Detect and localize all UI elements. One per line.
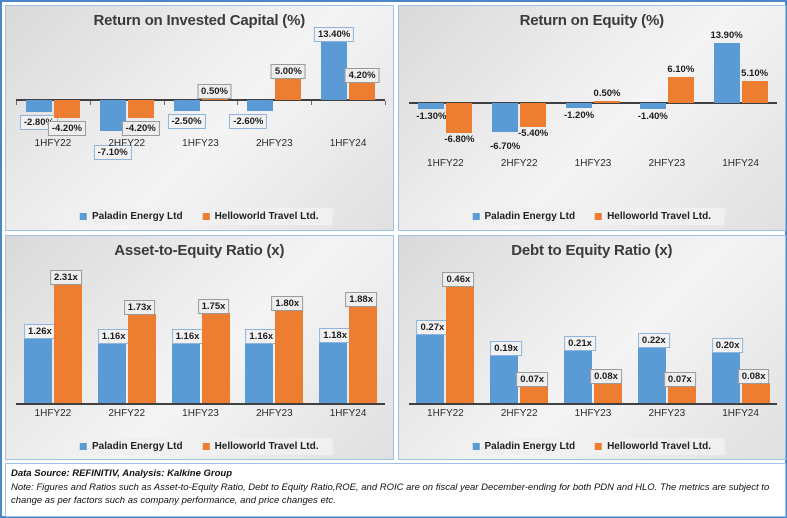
bar-debt-to-equity-helloworldtravelltd-1HFY23[interactable]	[594, 383, 622, 404]
bar-asset-to-equity-helloworldtravelltd-2HFY22[interactable]	[128, 314, 156, 404]
legend-label-blue: Paladin Energy Ltd	[92, 441, 183, 452]
data-label: 6.10%	[667, 64, 694, 75]
data-label: 4.20%	[345, 68, 380, 83]
x-axis-label-2HFY22: 2HFY22	[108, 408, 145, 419]
data-label: -4.20%	[122, 121, 160, 136]
legend-item-blue[interactable]: Paladin Energy Ltd	[80, 211, 183, 222]
legend-label-blue: Paladin Energy Ltd	[92, 211, 183, 222]
bar-roic-helloworldtravelltd-1HFY24[interactable]	[349, 82, 375, 100]
bar-roe-helloworldtravelltd-2HFY22[interactable]	[520, 103, 546, 126]
data-label: 1.16x	[245, 329, 277, 344]
data-label: -4.20%	[48, 121, 86, 136]
legend-item-orange[interactable]: Helloworld Travel Ltd.	[203, 441, 319, 452]
x-axis-label-1HFY22: 1HFY22	[35, 138, 72, 149]
chart-legend-debt-to-equity: Paladin Energy Ltd Helloworld Travel Ltd…	[459, 438, 725, 455]
data-label: 0.08x	[590, 369, 622, 384]
x-axis-label-1HFY23: 1HFY23	[182, 408, 219, 419]
plot-area-roe: -1.30%-6.70%-1.20%-1.40%13.90%-6.80%-5.4…	[409, 38, 778, 140]
x-axis-label-2HFY22: 2HFY22	[501, 408, 538, 419]
bar-asset-to-equity-paladinenergyltd-2HFY22[interactable]	[98, 343, 126, 403]
infographic-frame: Return on Invested Capital (%) -2.80%-7.…	[0, 0, 787, 518]
x-axis-tick	[16, 101, 17, 105]
legend-label-orange: Helloworld Travel Ltd.	[215, 441, 319, 452]
bar-asset-to-equity-helloworldtravelltd-1HFY24[interactable]	[349, 306, 377, 403]
data-label: 0.50%	[197, 84, 232, 99]
footnote-text: Note: Figures and Ratios such as Asset-t…	[11, 481, 780, 507]
data-label: 0.21x	[564, 336, 596, 351]
bar-asset-to-equity-paladinenergyltd-2HFY23[interactable]	[245, 343, 273, 403]
bar-roe-helloworldtravelltd-1HFY22[interactable]	[446, 103, 472, 133]
bar-roe-paladinenergyltd-2HFY23[interactable]	[640, 103, 666, 109]
bar-roe-helloworldtravelltd-1HFY24[interactable]	[742, 81, 768, 103]
plot-area-debt-to-equity: 0.27x0.19x0.21x0.22x0.20x0.46x0.07x0.08x…	[409, 272, 778, 404]
legend-swatch-orange-icon	[203, 213, 210, 220]
data-source-text: Data Source: REFINITIV, Analysis: Kalkin…	[11, 467, 780, 480]
plot-area-roic: -2.80%-7.10%-2.50%-2.60%13.40%-4.20%-4.2…	[16, 36, 385, 136]
x-axis-label-1HFY22: 1HFY22	[35, 408, 72, 419]
data-label: 13.90%	[710, 30, 742, 41]
data-label: 0.22x	[638, 333, 670, 348]
bar-debt-to-equity-paladinenergyltd-1HFY22[interactable]	[416, 334, 444, 403]
chart-legend-asset-to-equity: Paladin Energy Ltd Helloworld Travel Ltd…	[66, 438, 332, 455]
x-axis-tick	[311, 101, 312, 105]
data-label: 0.27x	[417, 320, 449, 335]
data-label: 1.18x	[319, 328, 351, 343]
data-label: 1.88x	[345, 292, 377, 307]
bar-debt-to-equity-paladinenergyltd-2HFY23[interactable]	[638, 347, 666, 403]
legend-swatch-orange-icon	[595, 443, 602, 450]
legend-swatch-orange-icon	[203, 443, 210, 450]
data-label: 5.10%	[741, 68, 768, 79]
bar-debt-to-equity-paladinenergyltd-1HFY23[interactable]	[564, 350, 592, 404]
chart-title-asset-to-equity: Asset-to-Equity Ratio (x)	[6, 242, 393, 259]
chart-grid: Return on Invested Capital (%) -2.80%-7.…	[5, 5, 786, 460]
chart-legend-roic: Paladin Energy Ltd Helloworld Travel Ltd…	[66, 208, 332, 225]
legend-swatch-blue-icon	[473, 443, 480, 450]
legend-swatch-blue-icon	[80, 443, 87, 450]
bar-roe-paladinenergyltd-1HFY22[interactable]	[418, 103, 444, 109]
data-label: 0.19x	[490, 341, 522, 356]
legend-label-orange: Helloworld Travel Ltd.	[607, 441, 711, 452]
x-axis-label-2HFY23: 2HFY23	[648, 408, 685, 419]
bar-asset-to-equity-helloworldtravelltd-1HFY23[interactable]	[202, 313, 230, 404]
data-label: 1.16x	[172, 329, 204, 344]
bar-roe-helloworldtravelltd-2HFY23[interactable]	[668, 77, 694, 103]
legend-item-orange[interactable]: Helloworld Travel Ltd.	[203, 211, 319, 222]
data-label: 0.07x	[664, 372, 696, 387]
chart-panel-roic: Return on Invested Capital (%) -2.80%-7.…	[5, 5, 394, 231]
bar-asset-to-equity-helloworldtravelltd-2HFY23[interactable]	[275, 310, 303, 403]
chart-panel-roe: Return on Equity (%) -1.30%-6.70%-1.20%-…	[398, 5, 787, 231]
x-axis-label-2HFY23: 2HFY23	[256, 408, 293, 419]
x-axis-label-2HFY23: 2HFY23	[256, 138, 293, 149]
x-axis-label-2HFY23: 2HFY23	[648, 158, 685, 169]
data-label: 1.73x	[124, 300, 156, 315]
legend-swatch-blue-icon	[80, 213, 87, 220]
bar-roic-paladinenergyltd-2HFY23[interactable]	[247, 100, 273, 111]
bar-roic-helloworldtravelltd-1HFY22[interactable]	[54, 100, 80, 118]
x-axis-label-1HFY24: 1HFY24	[330, 408, 367, 419]
data-label: 0.07x	[516, 372, 548, 387]
bar-asset-to-equity-helloworldtravelltd-1HFY22[interactable]	[54, 284, 82, 404]
data-label: 1.26x	[24, 324, 56, 339]
data-label: -6.70%	[490, 141, 520, 152]
bar-debt-to-equity-helloworldtravelltd-2HFY23[interactable]	[668, 386, 696, 404]
bar-roe-helloworldtravelltd-1HFY23[interactable]	[594, 101, 620, 103]
data-label: 5.00%	[271, 64, 306, 79]
x-axis-label-2HFY22: 2HFY22	[108, 138, 145, 149]
bar-asset-to-equity-paladinenergyltd-1HFY22[interactable]	[24, 338, 52, 403]
chart-legend-roe: Paladin Energy Ltd Helloworld Travel Ltd…	[459, 208, 725, 225]
chart-panel-debt-to-equity: Debt to Equity Ratio (x) 0.27x0.19x0.21x…	[398, 235, 787, 461]
x-axis-label-1HFY22: 1HFY22	[427, 408, 464, 419]
bar-roe-paladinenergyltd-2HFY22[interactable]	[492, 103, 518, 132]
legend-swatch-orange-icon	[595, 213, 602, 220]
data-label: -1.30%	[416, 111, 446, 122]
legend-label-orange: Helloworld Travel Ltd.	[215, 211, 319, 222]
data-label: 1.75x	[198, 299, 230, 314]
legend-swatch-blue-icon	[473, 213, 480, 220]
data-label: -1.40%	[638, 111, 668, 122]
bar-debt-to-equity-helloworldtravelltd-1HFY22[interactable]	[446, 286, 474, 404]
bar-debt-to-equity-paladinenergyltd-1HFY24[interactable]	[712, 352, 740, 403]
footer-note-box: Data Source: REFINITIV, Analysis: Kalkin…	[5, 463, 786, 517]
x-axis-tick	[385, 101, 386, 105]
legend-item-blue[interactable]: Paladin Energy Ltd	[80, 441, 183, 452]
bar-debt-to-equity-helloworldtravelltd-1HFY24[interactable]	[742, 383, 770, 404]
data-label: -5.40%	[518, 128, 548, 139]
x-axis-label-1HFY24: 1HFY24	[722, 408, 759, 419]
bar-roic-paladinenergyltd-1HFY22[interactable]	[26, 100, 52, 112]
legend-label-orange: Helloworld Travel Ltd.	[607, 211, 711, 222]
bar-roic-helloworldtravelltd-2HFY23[interactable]	[275, 78, 301, 100]
data-label: 0.08x	[738, 369, 770, 384]
bar-roic-paladinenergyltd-1HFY24[interactable]	[321, 41, 347, 100]
bar-roe-paladinenergyltd-1HFY24[interactable]	[714, 43, 740, 103]
x-axis-tick	[90, 101, 91, 105]
legend-item-blue[interactable]: Paladin Energy Ltd	[473, 211, 576, 222]
data-label: -6.80%	[444, 134, 474, 145]
x-axis-tick	[164, 101, 165, 105]
bar-asset-to-equity-paladinenergyltd-1HFY24[interactable]	[319, 342, 347, 403]
data-label: -2.50%	[167, 114, 205, 129]
data-label: -1.20%	[564, 110, 594, 121]
legend-item-orange[interactable]: Helloworld Travel Ltd.	[595, 441, 711, 452]
x-axis-label-1HFY24: 1HFY24	[330, 138, 367, 149]
legend-label-blue: Paladin Energy Ltd	[485, 211, 576, 222]
bar-roic-paladinenergyltd-1HFY23[interactable]	[174, 100, 200, 111]
x-axis-label-1HFY23: 1HFY23	[575, 408, 612, 419]
x-axis-label-2HFY22: 2HFY22	[501, 158, 538, 169]
chart-panel-asset-to-equity: Asset-to-Equity Ratio (x) 1.26x1.16x1.16…	[5, 235, 394, 461]
data-label: 0.50%	[594, 88, 621, 99]
plot-area-asset-to-equity: 1.26x1.16x1.16x1.16x1.18x2.31x1.73x1.75x…	[16, 272, 385, 404]
x-axis-label-1HFY23: 1HFY23	[575, 158, 612, 169]
data-label: 1.80x	[271, 296, 303, 311]
legend-item-blue[interactable]: Paladin Energy Ltd	[473, 441, 576, 452]
bar-debt-to-equity-paladinenergyltd-2HFY22[interactable]	[490, 355, 518, 404]
bar-roic-helloworldtravelltd-2HFY22[interactable]	[128, 100, 154, 118]
legend-label-blue: Paladin Energy Ltd	[485, 441, 576, 452]
data-label: 0.20x	[712, 338, 744, 353]
data-label: 2.31x	[50, 270, 82, 285]
x-axis-tick	[237, 101, 238, 105]
x-axis-label-1HFY24: 1HFY24	[722, 158, 759, 169]
data-label: -2.60%	[229, 114, 267, 129]
chart-title-debt-to-equity: Debt to Equity Ratio (x)	[399, 242, 786, 259]
data-label: 0.46x	[443, 272, 475, 287]
chart-title-roe: Return on Equity (%)	[399, 12, 786, 29]
bar-debt-to-equity-helloworldtravelltd-2HFY22[interactable]	[520, 386, 548, 404]
data-label: 1.16x	[98, 329, 130, 344]
bar-roe-paladinenergyltd-1HFY23[interactable]	[566, 103, 592, 108]
x-axis-label-1HFY23: 1HFY23	[182, 138, 219, 149]
legend-item-orange[interactable]: Helloworld Travel Ltd.	[595, 211, 711, 222]
data-label: 13.40%	[314, 27, 354, 42]
x-axis-label-1HFY22: 1HFY22	[427, 158, 464, 169]
bar-asset-to-equity-paladinenergyltd-1HFY23[interactable]	[172, 343, 200, 403]
